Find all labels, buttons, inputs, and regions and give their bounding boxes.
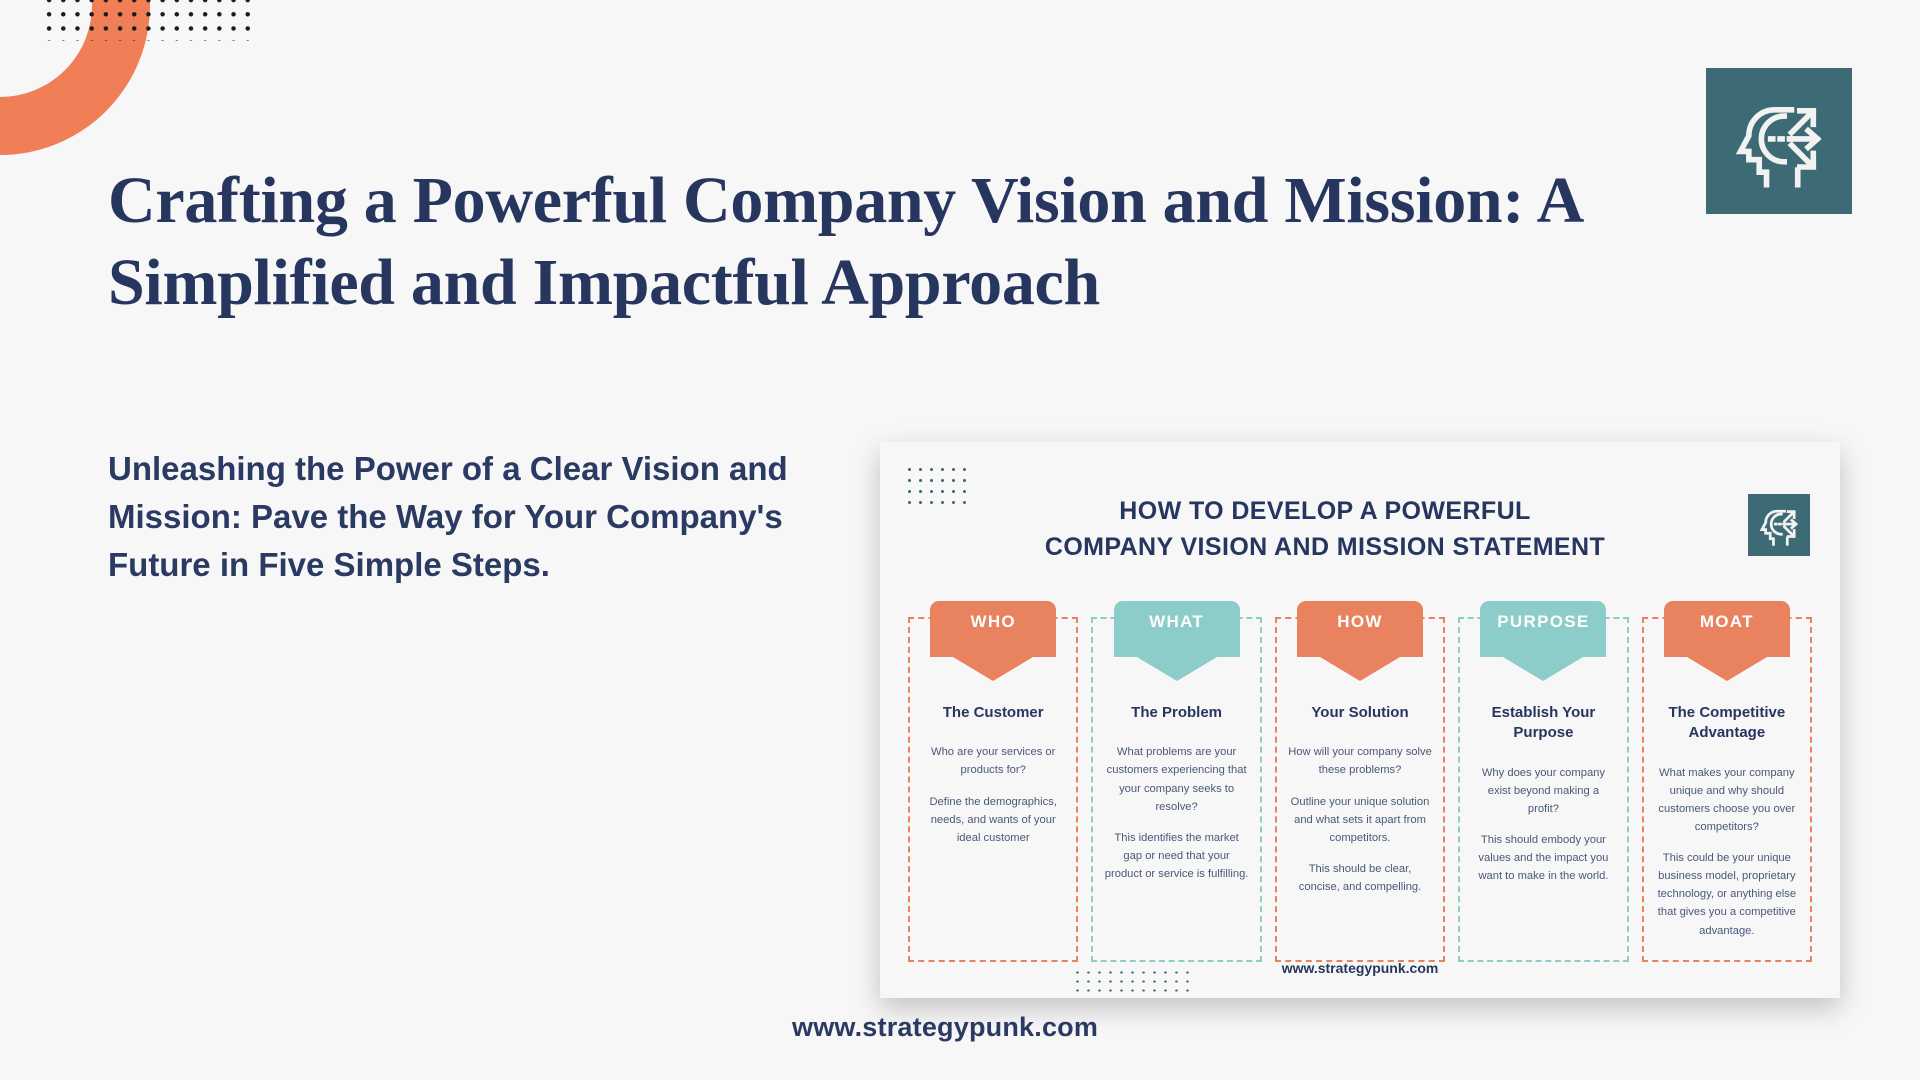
ribbon-label: WHAT	[1149, 612, 1204, 632]
card-footer-url: www.strategypunk.com	[880, 960, 1840, 976]
column-body: What problems are your customers experie…	[1093, 743, 1259, 883]
page-title: Crafting a Powerful Company Vision and M…	[108, 160, 1788, 324]
card-logo	[1748, 494, 1810, 556]
column-heading: Your Solution	[1277, 703, 1443, 723]
column-paragraph: How will your company solve these proble…	[1288, 743, 1432, 779]
framework-column-who: WHO The Customer Who are your services o…	[908, 617, 1078, 962]
ribbon-purpose: PURPOSE	[1480, 601, 1606, 657]
column-body: Who are your services or products for? D…	[910, 743, 1076, 847]
head-profile-with-diverging-arrows-icon	[1727, 89, 1831, 193]
card-title: HOW TO DEVELOP A POWERFUL COMPANY VISION…	[950, 494, 1700, 565]
column-paragraph: Why does your company exist beyond makin…	[1471, 764, 1615, 818]
column-body: How will your company solve these proble…	[1277, 743, 1443, 896]
column-heading: The Problem	[1093, 703, 1259, 723]
column-heading: The Competitive Advantage	[1644, 703, 1810, 744]
framework-column-purpose: PURPOSE Establish Your Purpose Why does …	[1458, 617, 1628, 962]
column-paragraph: This identifies the market gap or need t…	[1104, 829, 1248, 883]
framework-columns: WHO The Customer Who are your services o…	[908, 617, 1812, 962]
ribbon-label: WHO	[970, 612, 1015, 632]
ribbon-label: PURPOSE	[1497, 612, 1589, 632]
card-title-line-1: HOW TO DEVELOP A POWERFUL	[1119, 497, 1530, 525]
column-body: What makes your company unique and why s…	[1644, 764, 1810, 940]
page-subtitle: Unleashing the Power of a Clear Vision a…	[108, 445, 788, 589]
framework-column-how: HOW Your Solution How will your company …	[1275, 617, 1445, 962]
ribbon-moat: MOAT	[1664, 601, 1790, 657]
ribbon-who: WHO	[930, 601, 1056, 657]
page-footer-url: www.strategypunk.com	[792, 1012, 1098, 1043]
column-paragraph: This should embody your values and the i…	[1471, 831, 1615, 885]
column-paragraph: What makes your company unique and why s…	[1655, 764, 1799, 837]
infographic-card: HOW TO DEVELOP A POWERFUL COMPANY VISION…	[880, 442, 1840, 998]
ribbon-what: WHAT	[1114, 601, 1240, 657]
framework-column-what: WHAT The Problem What problems are your …	[1091, 617, 1261, 962]
column-heading: The Customer	[910, 703, 1076, 723]
column-paragraph: What problems are your customers experie…	[1104, 743, 1248, 816]
dark-dot-grid-decoration	[42, 0, 257, 41]
column-paragraph: This could be your unique business model…	[1655, 849, 1799, 940]
column-body: Why does your company exist beyond makin…	[1460, 764, 1626, 886]
slide-canvas: Crafting a Powerful Company Vision and M…	[0, 0, 1920, 1080]
ribbon-how: HOW	[1297, 601, 1423, 657]
card-title-line-2: COMPANY VISION AND MISSION STATEMENT	[950, 530, 1700, 566]
brand-logo	[1706, 68, 1852, 214]
ribbon-label: HOW	[1337, 612, 1382, 632]
column-paragraph: Outline your unique solution and what se…	[1288, 793, 1432, 847]
column-paragraph: Who are your services or products for?	[921, 743, 1065, 779]
column-heading: Establish Your Purpose	[1460, 703, 1626, 744]
ribbon-label: MOAT	[1700, 612, 1754, 632]
column-paragraph: Define the demographics, needs, and want…	[921, 793, 1065, 847]
framework-column-moat: MOAT The Competitive Advantage What make…	[1642, 617, 1812, 962]
head-profile-with-diverging-arrows-icon	[1756, 502, 1802, 548]
column-paragraph: This should be clear, concise, and compe…	[1288, 860, 1432, 896]
